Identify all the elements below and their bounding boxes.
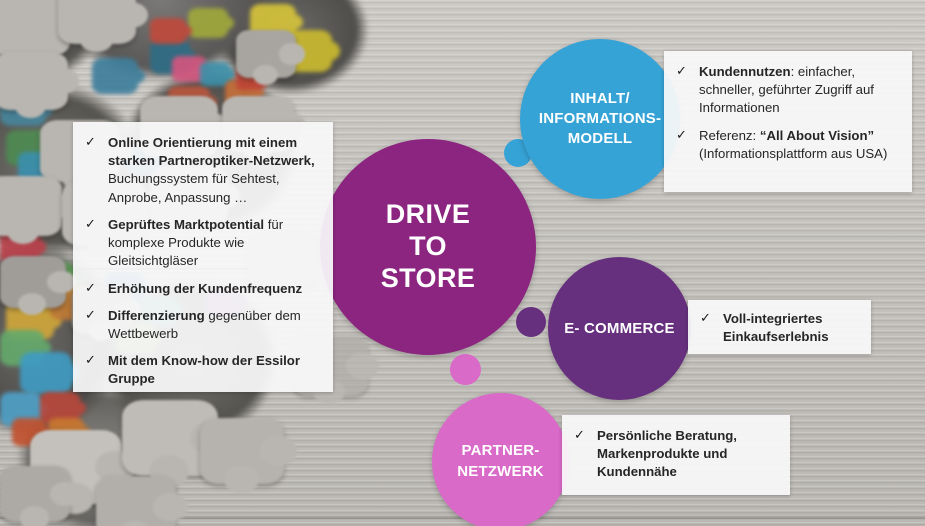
ecommerce-list: ✓ Voll-integriertes Einkaufserlebnis [700,310,861,346]
inhalt-box: ✓ Kundennutzen: einfacher, schneller, ge… [664,51,912,192]
partner-box: ✓ Persönliche Beratung, Markenprodukte u… [562,415,790,495]
check-icon: ✓ [85,306,96,324]
list-item: ✓ Persönliche Beratung, Markenprodukte u… [574,427,780,482]
partner-list: ✓ Persönliche Beratung, Markenprodukte u… [574,427,780,482]
check-icon: ✓ [676,126,687,144]
node-label-inhalt: INHALT/ INFORMATIONS- MODELL [539,89,661,148]
list-item-rest2: (Informationsplattform aus USA) [699,146,887,161]
connector-dot-partner [450,354,481,385]
check-icon: ✓ [676,62,687,80]
puzzle-piece-grey [0,52,68,110]
list-item: ✓ Kundennutzen: einfacher, schneller, ge… [676,63,898,118]
list-item: ✓ Differenzierung gegenüber dem Wettbewe… [85,307,319,343]
check-icon: ✓ [85,215,96,233]
puzzle-piece-grey [0,176,62,236]
list-item: ✓ Referenz: “All About Vision” (Informat… [676,127,898,163]
connector-dot-ecommerce [516,307,546,337]
benefits-box: ✓ Online Orientierung mit einem starken … [73,122,333,392]
list-item-bold: Differenzierung [108,308,205,323]
check-icon: ✓ [574,426,585,444]
list-item-bold: Voll-integriertes Einkaufserlebnis [723,311,829,344]
benefits-list: ✓ Online Orientierung mit einem starken … [85,134,319,389]
puzzle-piece-grey [236,30,296,78]
list-item-bold: Erhöhung der Kundenfrequenz [108,281,302,296]
list-item-bold: “All About Vision” [760,128,874,143]
node-circle-ecommerce[interactable]: E- COMMERCE [548,257,691,400]
center-circle-label: DRIVE TO STORE [381,199,476,295]
node-circle-partner[interactable]: PARTNER- NETZWERK [432,393,569,526]
puzzle-piece-grey [0,256,66,308]
list-item: ✓ Voll-integriertes Einkaufserlebnis [700,310,861,346]
node-label-ecommerce: E- COMMERCE [564,320,675,337]
ecommerce-box: ✓ Voll-integriertes Einkaufserlebnis [688,300,871,354]
puzzle-piece-green [188,8,228,38]
puzzle-piece-blue [20,352,72,394]
puzzle-piece-grey [58,0,136,44]
list-item: ✓ Erhöhung der Kundenfrequenz [85,280,319,298]
puzzle-piece-red [150,18,186,44]
check-icon: ✓ [85,351,96,369]
check-icon: ✓ [85,279,96,297]
puzzle-piece-grey [200,418,284,484]
list-item: ✓ Online Orientierung mit einem starken … [85,134,319,207]
list-item-bold: Kundennutzen [699,64,791,79]
list-item-bold: Geprüftes Marktpotential [108,217,264,232]
list-item-rest: Buchungssystem für Sehtest, Anprobe, Anp… [108,171,280,204]
node-circle-inhalt[interactable]: INHALT/ INFORMATIONS- MODELL [520,39,680,199]
slide-canvas: INHALT/ INFORMATIONS- MODELL DRIVE TO ST… [0,0,925,526]
check-icon: ✓ [85,133,96,151]
check-icon: ✓ [700,309,711,327]
center-circle-drive-to-store[interactable]: DRIVE TO STORE [320,139,536,355]
list-item: ✓ Mit dem Know-how der Essilor Gruppe [85,352,319,388]
inhalt-list: ✓ Kundennutzen: einfacher, schneller, ge… [676,63,898,163]
puzzle-piece-grey [0,466,70,522]
list-item: ✓ Geprüftes Marktpotential für komplexe … [85,216,319,271]
list-item-bold: Online Orientierung mit einem starken Pa… [108,135,315,168]
list-item-bold: Persönliche Beratung, Markenprodukte und… [597,428,737,479]
puzzle-piece-grey [96,476,176,526]
list-item-rest: Referenz: [699,128,760,143]
list-item-bold: Mit dem Know-how der Essilor Gruppe [108,353,300,386]
node-label-partner: PARTNER- NETZWERK [457,441,544,482]
puzzle-piece-blue [92,58,138,94]
